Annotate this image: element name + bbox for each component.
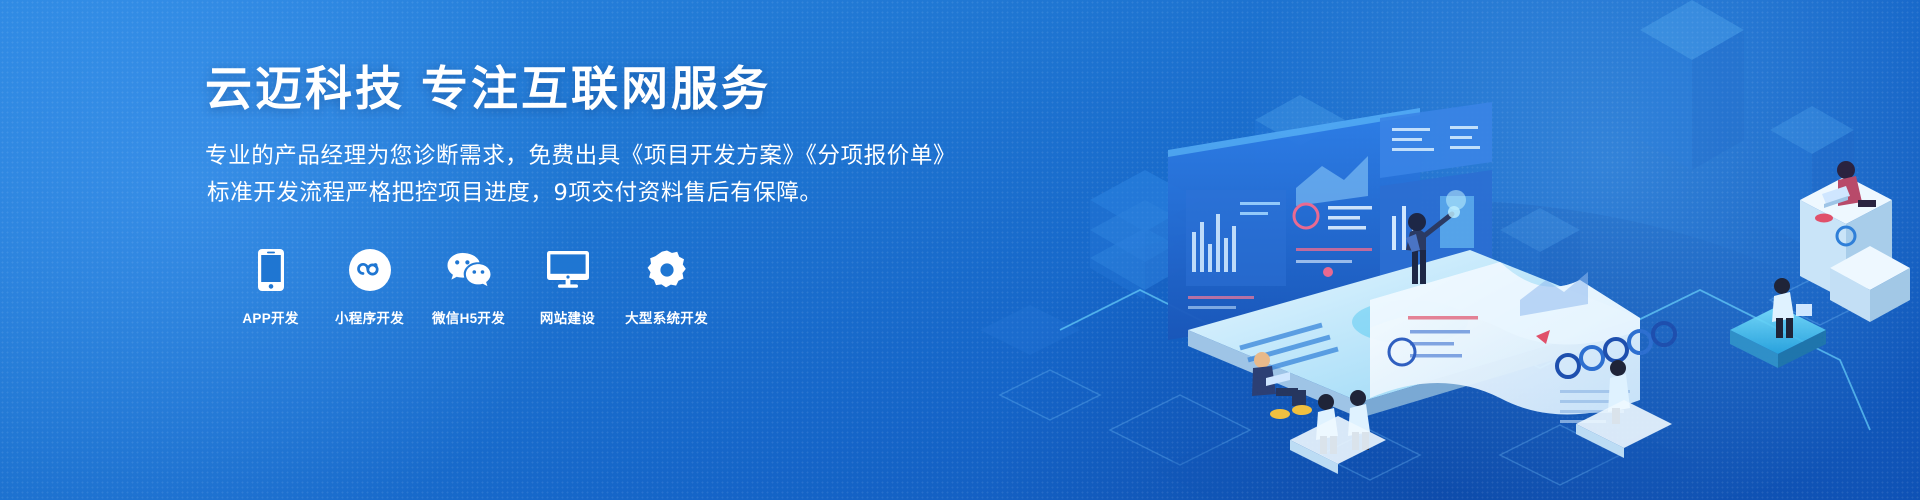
service-label: 大型系统开发	[625, 307, 708, 327]
banner-copy: 云迈科技 专注互联网服务 专业的产品经理为您诊断需求，免费出具《项目开发方案》《…	[205, 62, 905, 327]
service-item-app[interactable]: APP开发	[233, 248, 308, 327]
illustration	[940, 0, 1920, 500]
page-title: 云迈科技 专注互联网服务	[205, 62, 905, 117]
subtitle-line-1: 专业的产品经理为您诊断需求，免费出具《项目开发方案》《分项报价单》	[205, 138, 905, 175]
monitor-icon	[545, 248, 591, 292]
mobile-phone-icon	[248, 248, 294, 292]
wechat-icon	[446, 248, 492, 292]
service-item-mini-program[interactable]: 小程序开发	[332, 248, 407, 327]
service-item-large-system[interactable]: 大型系统开发	[629, 248, 704, 327]
service-item-website[interactable]: 网站建设	[530, 248, 605, 327]
mini-program-icon	[347, 248, 393, 292]
gear-icon	[644, 248, 690, 292]
service-label: APP开发	[242, 307, 298, 327]
service-item-wechat[interactable]: 微信H5开发	[431, 248, 506, 327]
service-label: 微信H5开发	[432, 307, 505, 327]
subtitle-line-2: 标准开发流程严格把控项目进度，9项交付资料售后有保障。	[205, 175, 905, 212]
promo-banner: 云迈科技 专注互联网服务 专业的产品经理为您诊断需求，免费出具《项目开发方案》《…	[0, 0, 1920, 500]
service-label: 小程序开发	[335, 307, 404, 327]
step-platforms	[1730, 176, 1910, 368]
service-label: 网站建设	[540, 307, 595, 327]
banner-subtitle: 专业的产品经理为您诊断需求，免费出具《项目开发方案》《分项报价单》 标准开发流程…	[205, 138, 905, 212]
service-list: APP开发 小程序开发	[205, 248, 905, 327]
